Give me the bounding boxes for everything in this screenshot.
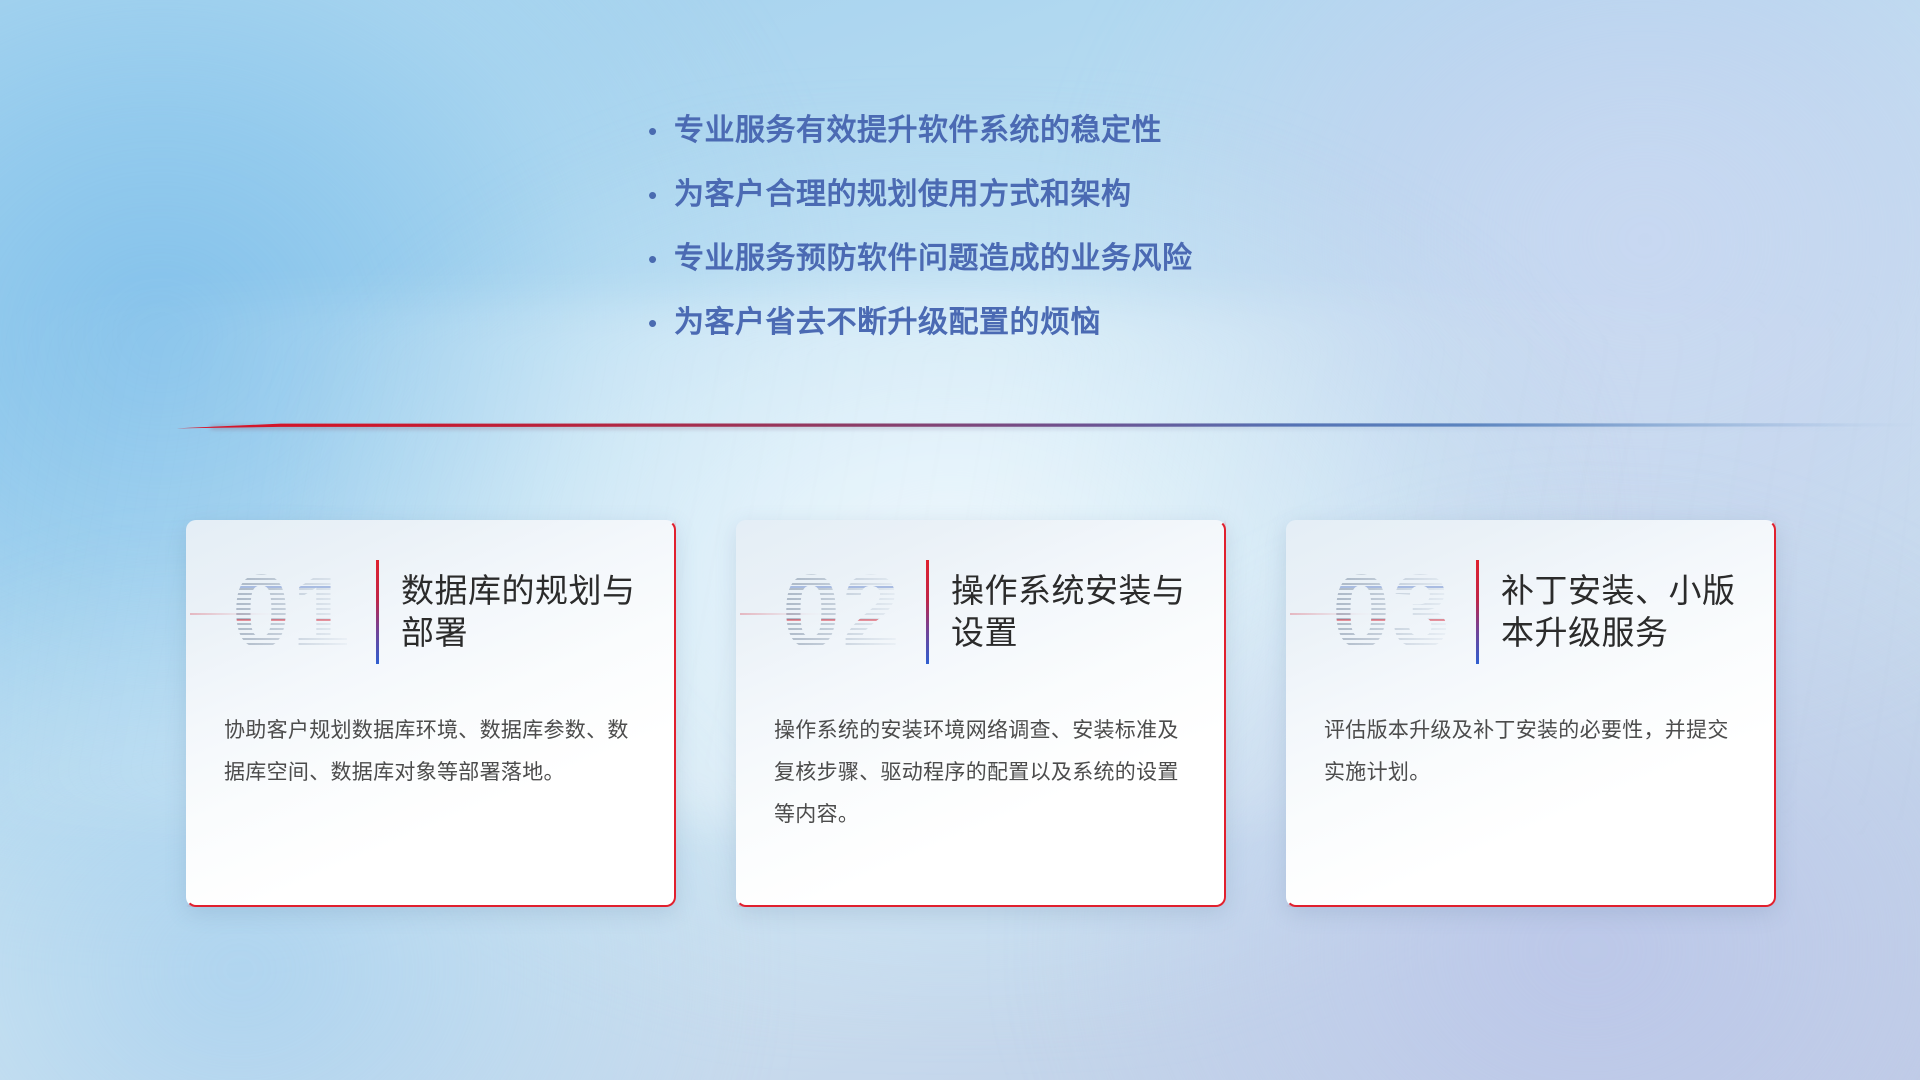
bullet-dot-icon: • — [648, 246, 674, 272]
list-item: • 专业服务预防软件问题造成的业务风险 — [648, 233, 1448, 297]
bullet-text-1: 专业服务有效提升软件系统的稳定性 — [674, 105, 1162, 149]
card-title-01: 数据库的规划与部署 — [401, 570, 663, 654]
card-title-accent-bar — [926, 560, 929, 664]
card-number-01: 01 01 — [208, 553, 376, 671]
card-body-01: 协助客户规划数据库环境、数据库参数、数据库空间、数据库对象等部署落地。 — [224, 710, 644, 794]
service-card-01[interactable]: 01 01 数据库的规划与部署 协助客户规划数据库环境、数据库参数、数据库空间、… — [186, 520, 676, 907]
card-header: 01 01 数据库的规划与部署 — [186, 542, 676, 682]
card-body-02: 操作系统的安装环境网络调查、安装标准及复核步骤、驱动程序的配置以及系统的设置等内… — [774, 710, 1194, 836]
card-title-03: 补丁安装、小版本升级服务 — [1501, 570, 1763, 654]
card-number-tint: 01 — [208, 553, 376, 671]
card-title-accent-bar — [1476, 560, 1479, 664]
card-header: 02 02 操作系统安装与设置 — [736, 542, 1226, 682]
card-number-02: 02 02 — [758, 553, 926, 671]
card-title-accent-bar — [376, 560, 379, 664]
card-number-tint: 02 — [758, 553, 926, 671]
list-item: • 专业服务有效提升软件系统的稳定性 — [648, 105, 1448, 169]
bullet-text-2: 为客户合理的规划使用方式和架构 — [674, 169, 1132, 213]
card-body-03: 评估版本升级及补丁安装的必要性，并提交实施计划。 — [1324, 710, 1744, 794]
card-title-02: 操作系统安装与设置 — [951, 570, 1213, 654]
service-card-03[interactable]: 03 03 补丁安装、小版本升级服务 评估版本升级及补丁安装的必要性，并提交实施… — [1286, 520, 1776, 907]
bullet-text-3: 专业服务预防软件问题造成的业务风险 — [674, 233, 1193, 277]
bullet-dot-icon: • — [648, 118, 674, 144]
card-number-tint: 03 — [1308, 553, 1476, 671]
section-divider — [176, 415, 1920, 433]
divider-line — [176, 415, 1920, 433]
card-header: 03 03 补丁安装、小版本升级服务 — [1286, 542, 1776, 682]
bullet-dot-icon: • — [648, 182, 674, 208]
card-number-03: 03 03 — [1308, 553, 1476, 671]
list-item: • 为客户合理的规划使用方式和架构 — [648, 169, 1448, 233]
bullet-dot-icon: • — [648, 310, 674, 336]
bullet-text-4: 为客户省去不断升级配置的烦恼 — [674, 297, 1101, 341]
service-card-group: 01 01 数据库的规划与部署 协助客户规划数据库环境、数据库参数、数据库空间、… — [0, 520, 1920, 920]
benefits-bullet-list: • 专业服务有效提升软件系统的稳定性 • 为客户合理的规划使用方式和架构 • 专… — [648, 105, 1448, 361]
slide-root: • 专业服务有效提升软件系统的稳定性 • 为客户合理的规划使用方式和架构 • 专… — [0, 0, 1920, 1080]
service-card-02[interactable]: 02 02 操作系统安装与设置 操作系统的安装环境网络调查、安装标准及复核步骤、… — [736, 520, 1226, 907]
list-item: • 为客户省去不断升级配置的烦恼 — [648, 297, 1448, 361]
